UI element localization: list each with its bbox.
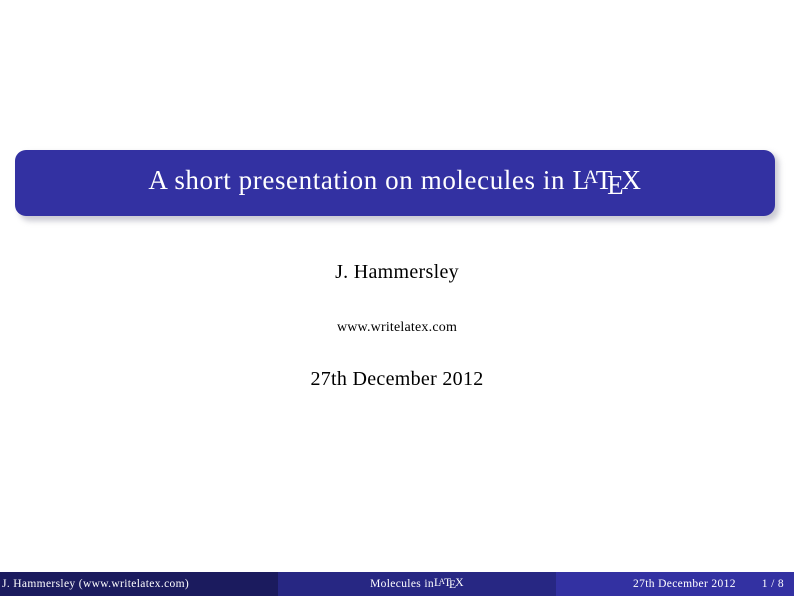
presentation-slide: A short presentation on molecules in LAT… [0, 0, 794, 596]
institute-url: www.writelatex.com [0, 320, 794, 336]
footer-latex-logo-x: X [455, 577, 464, 589]
footer-page-number: 1 / 8 [762, 578, 784, 590]
title-box: A short presentation on molecules in LAT… [15, 150, 775, 216]
footer-bar: J. Hammersley (www.writelatex.com) Molec… [0, 572, 794, 596]
latex-logo-x: X [622, 165, 642, 195]
footer-title: Molecules in LATEX [278, 572, 556, 596]
author-name: J. Hammersley [0, 261, 794, 284]
footer-date: 27th December 2012 [633, 578, 736, 590]
footer-author: J. Hammersley (www.writelatex.com) [0, 572, 278, 596]
footer-right-section: 27th December 2012 1 / 8 [556, 572, 794, 596]
latex-logo: LATEX [573, 167, 642, 200]
footer-latex-logo: LATEX [434, 577, 464, 592]
page-title: A short presentation on molecules in LAT… [148, 167, 641, 200]
page-title-text: A short presentation on molecules in [148, 165, 572, 195]
footer-title-text: Molecules in [370, 578, 434, 590]
presentation-date: 27th December 2012 [0, 368, 794, 391]
